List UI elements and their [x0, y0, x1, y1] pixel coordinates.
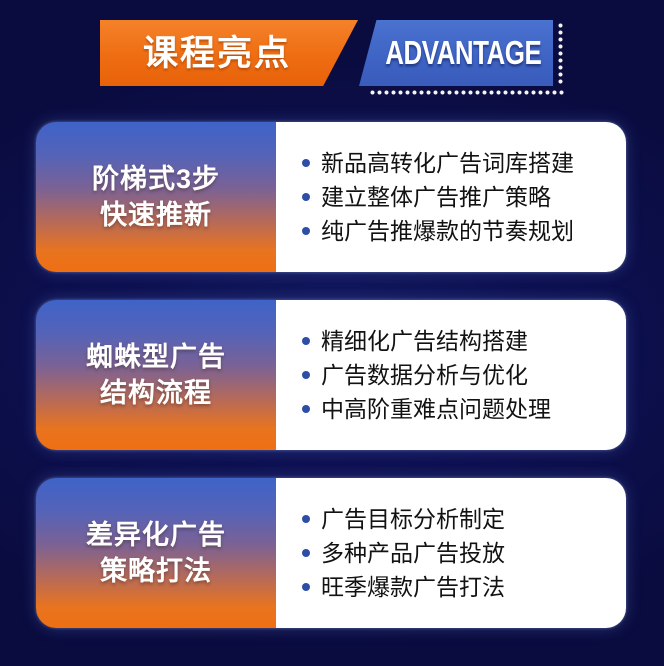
bullet-dot-icon: [302, 515, 310, 523]
header-banner-chinese: 课程亮点: [100, 20, 358, 86]
dotted-edge-right-decoration: [557, 22, 564, 86]
header-title-cn: 课程亮点: [143, 36, 291, 71]
feature-card-title-line-2: 快速推新: [100, 202, 212, 229]
feature-card-bullet-panel: 广告目标分析制定 多种产品广告投放 旺季爆款广告打法: [276, 478, 626, 628]
bullet-dot-icon: [302, 227, 310, 235]
bullet-dot-icon: [302, 405, 310, 413]
list-item: 广告目标分析制定: [302, 507, 505, 531]
feature-card-bullet-panel: 精细化广告结构搭建 广告数据分析与优化 中高阶重难点问题处理: [276, 300, 626, 450]
feature-card-title-line-2: 结构流程: [100, 380, 212, 407]
list-item: 中高阶重难点问题处理: [302, 397, 551, 421]
list-item: 多种产品广告投放: [302, 541, 505, 565]
bullet-dot-icon: [302, 371, 310, 379]
list-item: 建立整体广告推广策略: [302, 185, 551, 209]
bullet-label: 多种产品广告投放: [321, 541, 505, 565]
bullet-dot-icon: [302, 583, 310, 591]
bullet-dot-icon: [302, 337, 310, 345]
bullet-label: 中高阶重难点问题处理: [321, 397, 551, 421]
feature-card-title-line-1: 差异化广告: [86, 522, 226, 549]
bullet-label: 广告数据分析与优化: [321, 363, 528, 387]
header-banner: 课程亮点 ADVANTAGE: [0, 20, 664, 90]
bullet-dot-icon: [302, 159, 310, 167]
dotted-edge-bottom-decoration: [369, 89, 565, 96]
feature-card: 蜘蛛型广告 结构流程 精细化广告结构搭建 广告数据分析与优化 中高阶重难点问题处…: [36, 300, 626, 450]
feature-card-title-line-1: 蜘蛛型广告: [86, 344, 226, 371]
bullet-label: 精细化广告结构搭建: [321, 329, 528, 353]
header-banner-english-wrap: ADVANTAGE: [359, 20, 564, 98]
feature-card: 差异化广告 策略打法 广告目标分析制定 多种产品广告投放 旺季爆款广告打法: [36, 478, 626, 628]
list-item: 新品高转化广告词库搭建: [302, 151, 574, 175]
bullet-label: 旺季爆款广告打法: [321, 575, 505, 599]
feature-card-title-panel: 蜘蛛型广告 结构流程: [36, 300, 276, 450]
feature-card-title-panel: 阶梯式3步 快速推新: [36, 122, 276, 272]
bullet-dot-icon: [302, 549, 310, 557]
bullet-label: 纯广告推爆款的节奏规划: [321, 219, 574, 243]
bullet-dot-icon: [302, 193, 310, 201]
bullet-label: 新品高转化广告词库搭建: [321, 151, 574, 175]
header-title-en: ADVANTAGE: [385, 37, 541, 70]
header-banner-english: ADVANTAGE: [359, 20, 553, 86]
list-item: 旺季爆款广告打法: [302, 575, 505, 599]
promo-poster: 课程亮点 ADVANTAGE 阶梯式3步 快速推新 新品高转化广告词库搭建 建立…: [0, 0, 664, 666]
list-item: 纯广告推爆款的节奏规划: [302, 219, 574, 243]
list-item: 广告数据分析与优化: [302, 363, 528, 387]
feature-card: 阶梯式3步 快速推新 新品高转化广告词库搭建 建立整体广告推广策略 纯广告推爆款…: [36, 122, 626, 272]
feature-card-title-panel: 差异化广告 策略打法: [36, 478, 276, 628]
feature-card-title-line-2: 策略打法: [100, 558, 212, 585]
feature-card-bullet-panel: 新品高转化广告词库搭建 建立整体广告推广策略 纯广告推爆款的节奏规划: [276, 122, 626, 272]
feature-card-title-line-1: 阶梯式3步: [92, 166, 220, 193]
list-item: 精细化广告结构搭建: [302, 329, 528, 353]
bullet-label: 广告目标分析制定: [321, 507, 505, 531]
bullet-label: 建立整体广告推广策略: [321, 185, 551, 209]
